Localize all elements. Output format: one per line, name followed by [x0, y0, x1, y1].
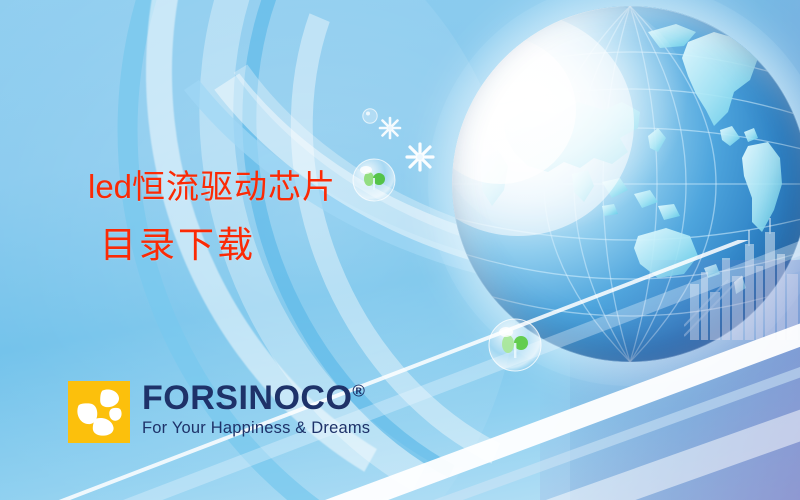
bubble-with-pinwheel-icon — [362, 108, 378, 124]
background-right-tint — [570, 0, 800, 500]
headline-line-1-cjk: 恒流驱动芯片 — [132, 167, 336, 206]
headline-line-2: 目录下载 — [100, 223, 336, 268]
star-sparkle-icon — [405, 142, 435, 177]
bubble-with-pinwheel-icon — [488, 318, 542, 372]
page-title: led恒流驱动芯片 目录下载 — [88, 166, 336, 268]
promo-banner: led恒流驱动芯片 目录下载 FORSINOCO® For — [0, 0, 800, 500]
bubble-with-pinwheel-icon — [352, 158, 396, 202]
globe-glow — [428, 0, 800, 386]
background-violet-corner — [540, 260, 800, 500]
city-skyline-icon — [684, 214, 800, 340]
globe-specular-highlight — [452, 6, 694, 241]
star-sparkle-icon — [378, 116, 402, 145]
globe-rim-shading — [452, 6, 800, 362]
logo-tagline: For Your Happiness & Dreams — [142, 419, 370, 438]
logo-text-group: FORSINOCO® For Your Happiness & Dreams — [142, 381, 370, 438]
headline-line-1-latin: led — [88, 168, 132, 205]
headline-line-1: led恒流驱动芯片 — [88, 166, 336, 208]
wordmark-text: FORSINOCO — [142, 379, 352, 417]
wordmark: FORSINOCO® — [142, 382, 370, 415]
registered-trademark-symbol: ® — [352, 382, 365, 401]
background-diagonal-stripes — [0, 240, 800, 500]
brand-logo[interactable]: FORSINOCO® For Your Happiness & Dreams — [68, 381, 370, 443]
earth-globe-icon — [452, 6, 800, 362]
pinwheel-flower-icon — [68, 381, 130, 443]
